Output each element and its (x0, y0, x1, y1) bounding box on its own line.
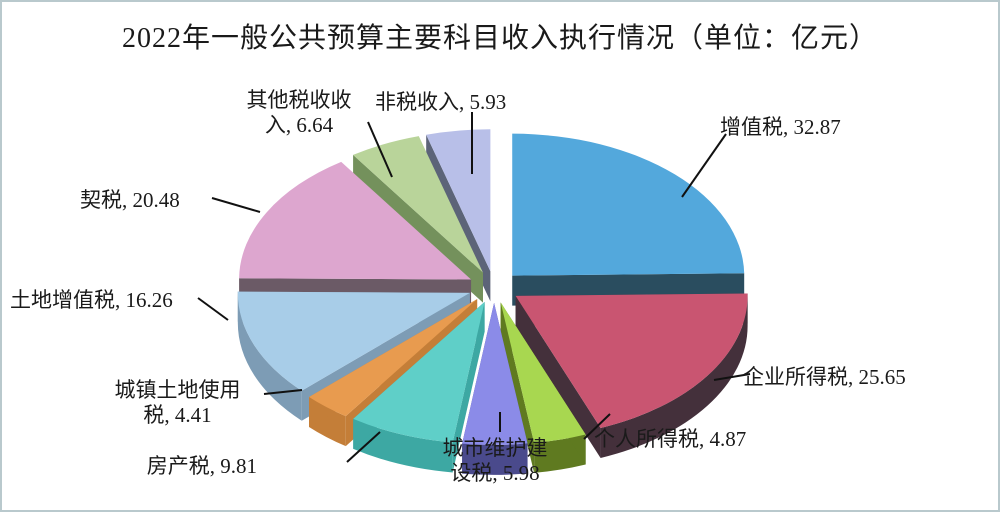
slice-label-line1: 城市维护建 (420, 436, 570, 461)
slice-label-line1: 城镇土地使用 (95, 378, 260, 403)
slice-label-chengzhentudishiyong: 城镇土地使用 税, 4.41 (95, 378, 260, 428)
slice-label-line2: 入, 6.64 (224, 113, 374, 138)
slice-label-qitashuishou: 其他税收收 入, 6.64 (224, 88, 374, 138)
slice-label-gerensuodeshui: 个人所得税, 4.87 (594, 427, 746, 452)
slice-label-qiyesuodeshui: 企业所得税, 25.65 (743, 365, 906, 390)
slice-label-line2: 税, 4.41 (95, 403, 260, 428)
slice-label-tudizengzhishui: 土地增值税, 16.26 (10, 288, 173, 313)
pie-slice-增值税 (512, 134, 744, 276)
slice-label-fangchanshui: 房产税, 9.81 (77, 454, 257, 479)
slice-label-chengshiweihujianshe: 城市维护建 设税, 5.98 (420, 436, 570, 486)
leader-line-土地增值税 (198, 298, 228, 320)
slice-label-zengzhishui: 增值税, 32.87 (720, 115, 841, 140)
slice-label-line1: 其他税收收 (224, 88, 374, 113)
slice-label-qishui: 契税, 20.48 (80, 188, 180, 213)
slice-label-feishuishouru: 非税收入, 5.93 (375, 90, 506, 115)
leader-line-增值税 (682, 134, 726, 197)
pie-chart-frame: 2022年一般公共预算主要科目收入执行情况（单位：亿元） 增值税, 32.87 … (0, 0, 1000, 512)
slice-label-line2: 设税, 5.98 (420, 461, 570, 486)
leader-line-契税 (212, 198, 260, 212)
